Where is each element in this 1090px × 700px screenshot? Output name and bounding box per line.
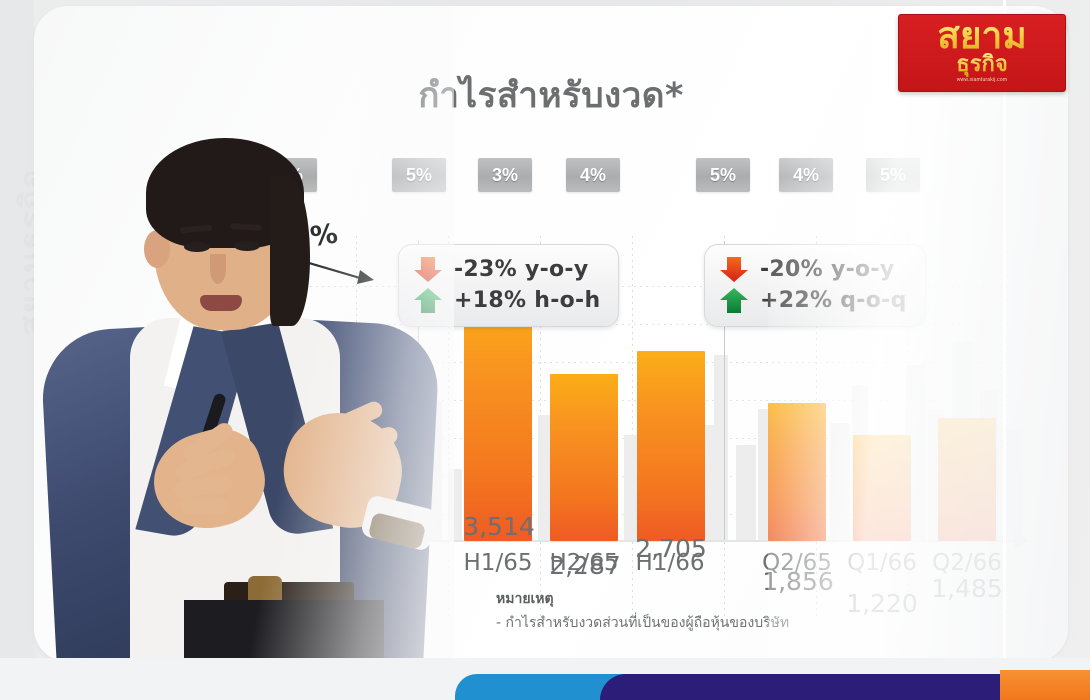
margin-badge-7: 5% — [866, 158, 920, 192]
margin-badge-4: 4% — [566, 158, 620, 192]
bar-H1/66[interactable] — [637, 351, 705, 541]
quarter-callout: -20% y-o-y+22% q-o-q — [704, 244, 926, 327]
bar-Q1/66[interactable] — [853, 435, 911, 541]
bar-H2/65[interactable] — [550, 374, 618, 541]
brand-band: SCGP — [0, 658, 1090, 700]
publisher-logo-url: www.siamturakij.com — [899, 77, 1065, 83]
publisher-logo[interactable]: สยาม ธุรกิจ www.siamturakij.com — [898, 14, 1066, 92]
footnote-line: - กำไรสำหรับงวดส่วนที่เป็นของผู้ถือหุ้นข… — [496, 612, 789, 634]
bar-H1/65[interactable] — [464, 298, 532, 541]
margin-badge-5: 5% — [696, 158, 750, 192]
footnote: หมายเหตุ - กำไรสำหรับงวดส่วนที่เป็นของผู… — [496, 588, 789, 634]
callout-row: +22% q-o-q — [719, 285, 907, 316]
category-label-H1/66: H1/66 — [610, 550, 730, 576]
callout-text: +18% h-o-h — [454, 288, 600, 313]
callout-row: -20% y-o-y — [719, 254, 907, 285]
watermark-strip: สยามธุรกิจ — [0, 0, 34, 700]
callout-text: +22% q-o-q — [760, 288, 907, 313]
slide-frame: สยามธุรกิจ 5,8013,514H1/652,287H2/652,70… — [0, 0, 1090, 700]
down-arrow-icon — [719, 256, 749, 283]
category-label-Q2/66: Q2/66 — [907, 550, 1027, 576]
up-arrow-icon — [719, 287, 749, 314]
band-orange: SCGP — [1000, 670, 1090, 700]
publisher-logo-sub: ธุรกิจ — [899, 53, 1065, 77]
photo-fade-overlay — [34, 6, 454, 662]
bar-Q2/66[interactable] — [938, 418, 996, 541]
slide-edge-line — [1003, 0, 1006, 662]
bar-Q2/65[interactable] — [768, 403, 826, 541]
margin-badge-6: 4% — [779, 158, 833, 192]
callout-text: -20% y-o-y — [760, 257, 895, 282]
publisher-logo-main: สยาม — [899, 16, 1065, 56]
callout-text: -23% y-o-y — [454, 257, 589, 282]
margin-badge-3: 3% — [478, 158, 532, 192]
bar-value-H1/65: 3,514 — [442, 512, 556, 541]
speaker-photo — [34, 6, 454, 662]
slide-card: 5,8013,514H1/652,287H2/652,705H1/661,856… — [34, 6, 1068, 662]
footnote-title: หมายเหตุ — [496, 588, 789, 610]
